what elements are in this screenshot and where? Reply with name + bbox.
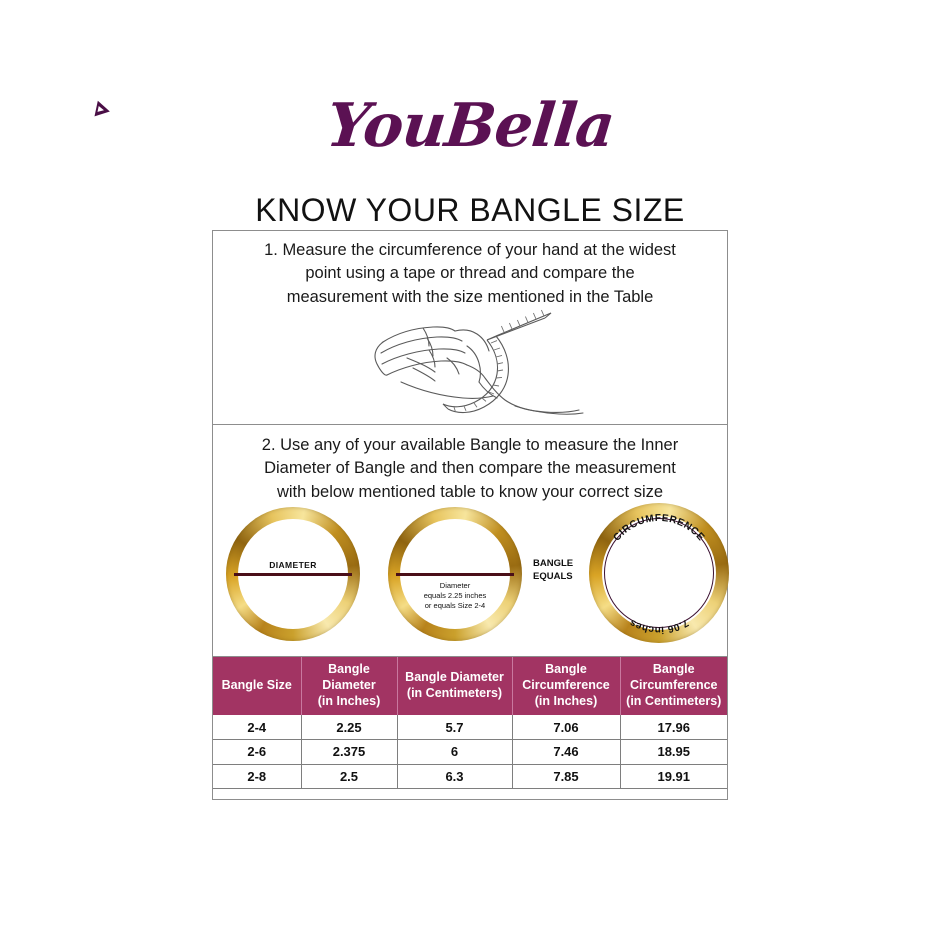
cell-diameter-centimeters: 6	[397, 740, 512, 765]
cell-diameter-centimeters: 5.7	[397, 715, 512, 740]
header-line: Bangle	[515, 662, 618, 678]
cell-circumference-inches: 7.46	[512, 740, 620, 765]
diamond-gem-icon	[94, 101, 111, 120]
step-1-line-1: 1. Measure the circumference of your han…	[231, 239, 709, 262]
header-line: Circumference	[623, 678, 726, 694]
header-line: Bangle	[304, 662, 395, 678]
table-row: 2-6 2.375 6 7.46 18.95	[213, 740, 727, 765]
guide-card: 1. Measure the circumference of your han…	[212, 230, 728, 800]
diameter-value-line-1: Diameter	[388, 581, 522, 591]
diameter-line	[396, 573, 514, 576]
column-header-diameter-centimeters: Bangle Diameter (in Centimeters)	[397, 657, 512, 715]
cell-circumference-centimeters: 19.91	[620, 764, 727, 789]
bangle-diagram-diameter: DIAMETER	[226, 507, 360, 641]
step-1-line-2: point using a tape or thread and compare…	[231, 262, 709, 285]
column-header-circumference-centimeters: Bangle Circumference (in Centimeters)	[620, 657, 727, 715]
step-2-line-1: 2. Use any of your available Bangle to m…	[231, 434, 709, 457]
cell-bangle-size: 2-4	[213, 715, 301, 740]
cell-bangle-size: 2-8	[213, 764, 301, 789]
cell-bangle-size: 2-6	[213, 740, 301, 765]
step-2-text: 2. Use any of your available Bangle to m…	[213, 425, 727, 504]
diameter-value-line-3: or equals Size 2-4	[388, 601, 522, 611]
arc-top-text: CIRCUMFERENCE	[611, 513, 706, 544]
cell-circumference-centimeters: 18.95	[620, 740, 727, 765]
cell-diameter-inches: 2.5	[301, 764, 397, 789]
cell-diameter-inches: 2.375	[301, 740, 397, 765]
header-line: Bangle Diameter	[400, 670, 510, 686]
cell-diameter-centimeters: 6.3	[397, 764, 512, 789]
bangle-diagram-diameter-value: Diameter equals 2.25 inches or equals Si…	[388, 507, 522, 641]
column-header-bangle-size: Bangle Size	[213, 657, 301, 715]
header-line: Diameter	[304, 678, 395, 694]
bangle-equals-line-1: BANGLE	[533, 558, 573, 571]
column-header-diameter-inches: Bangle Diameter (in Inches)	[301, 657, 397, 715]
step-2-line-3: with below mentioned table to know your …	[231, 481, 709, 504]
brand-logo: YouBella	[0, 96, 940, 174]
step-1-text: 1. Measure the circumference of your han…	[213, 231, 727, 309]
header-line: Bangle Size	[215, 678, 299, 694]
cell-diameter-inches: 2.25	[301, 715, 397, 740]
bangle-equals-label: BANGLE EQUALS	[533, 558, 573, 584]
step-2-line-2: Diameter of Bangle and then compare the …	[231, 457, 709, 480]
brand-logo-text: YouBella	[324, 96, 617, 156]
diameter-value-line-2: equals 2.25 inches	[388, 591, 522, 601]
circumference-word: CIRCUMFERENCE	[611, 513, 706, 544]
arc-bottom-text: 7.06 inches	[628, 617, 690, 635]
bangle-equals-line-2: EQUALS	[533, 571, 573, 584]
table-row: 2-4 2.25 5.7 7.06 17.96	[213, 715, 727, 740]
table-row: 2-8 2.5 6.3 7.85 19.91	[213, 764, 727, 789]
diameter-line	[234, 573, 352, 576]
step-1-block: 1. Measure the circumference of your han…	[213, 231, 727, 425]
circumference-arc-text: CIRCUMFERENCE 7.06 inches	[589, 503, 729, 643]
bangle-diagram-circumference: CIRCUMFERENCE 7.06 inches	[589, 503, 729, 643]
header-line: (in Centimeters)	[400, 686, 510, 702]
diameter-value-label: Diameter equals 2.25 inches or equals Si…	[388, 581, 522, 611]
cell-circumference-centimeters: 17.96	[620, 715, 727, 740]
header-line: (in Inches)	[515, 694, 618, 710]
table-header-row: Bangle Size Bangle Diameter (in Inches) …	[213, 657, 727, 715]
page-title: KNOW YOUR BANGLE SIZE	[0, 192, 940, 229]
bangle-diagrams: DIAMETER Diameter equals 2.25 inches or …	[213, 505, 727, 651]
column-header-circumference-inches: Bangle Circumference (in Inches)	[512, 657, 620, 715]
diameter-label: DIAMETER	[226, 560, 360, 570]
header-line: (in Inches)	[304, 694, 395, 710]
hand-with-measuring-tape-icon	[363, 306, 593, 424]
circumference-value: 7.06 inches	[628, 617, 690, 635]
step-2-block: 2. Use any of your available Bangle to m…	[213, 425, 727, 657]
bangle-size-guide-page: YouBella KNOW YOUR BANGLE SIZE 1. Measur…	[0, 0, 940, 940]
cell-circumference-inches: 7.06	[512, 715, 620, 740]
header-line: Circumference	[515, 678, 618, 694]
bangle-size-table: Bangle Size Bangle Diameter (in Inches) …	[213, 657, 727, 789]
header-line: (in Centimeters)	[623, 694, 726, 710]
cell-circumference-inches: 7.85	[512, 764, 620, 789]
header-line: Bangle	[623, 662, 726, 678]
